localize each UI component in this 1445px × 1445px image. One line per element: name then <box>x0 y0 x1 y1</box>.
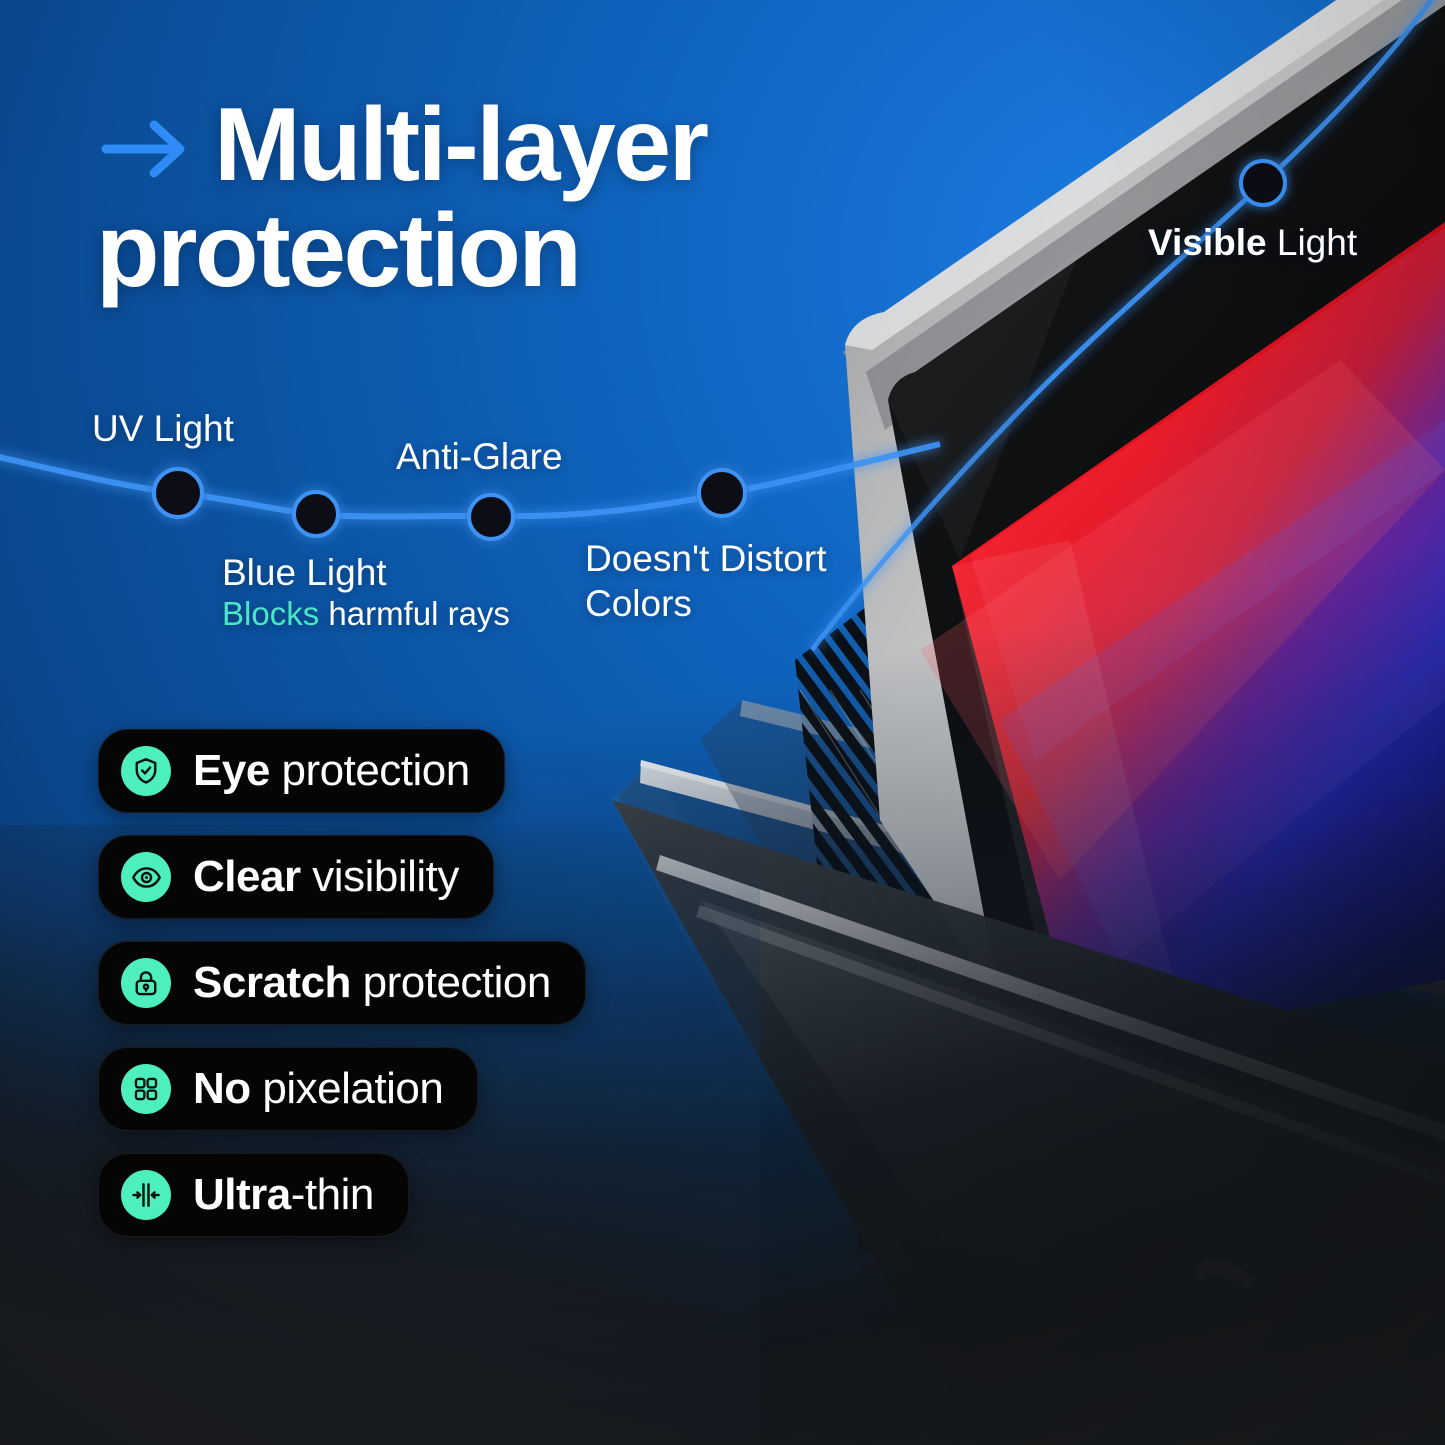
label-colors-line-2: Colors <box>585 581 826 626</box>
compress-arrows-icon <box>121 1170 171 1220</box>
label-uv-light: UV Light <box>92 408 234 449</box>
feature-pill-no-pixelation[interactable]: No pixelation <box>98 1047 478 1131</box>
feature-label-bold-2: Scratch <box>193 958 351 1007</box>
shield-check-icon <box>121 746 171 796</box>
page-title: Multi-layer protection <box>96 92 856 304</box>
feature-label-bold-3: No <box>193 1064 251 1113</box>
headline-line-1: Multi-layer <box>96 92 856 198</box>
label-anti-glare: Anti-Glare <box>396 436 563 477</box>
label-visible-light-bold: Visible <box>1148 222 1267 263</box>
label-doesnt-distort-colors: Doesn't Distort Colors <box>585 536 826 626</box>
feature-label-bold-0: Eye <box>193 746 270 795</box>
feature-pill-ultra-thin-label: Ultra-thin <box>193 1170 374 1220</box>
feature-pill-no-pixelation-label: No pixelation <box>193 1064 443 1114</box>
grid-four-icon <box>121 1064 171 1114</box>
label-blue-light-text: Blue Light <box>222 552 387 593</box>
feature-pill-list: Eye protection Clear visibility <box>98 729 586 1237</box>
label-uv-light-text: UV Light <box>92 408 234 449</box>
label-visible-light-rest: Light <box>1267 222 1358 263</box>
feature-pill-scratch-protection[interactable]: Scratch protection <box>98 941 586 1025</box>
feature-pill-eye-protection[interactable]: Eye protection <box>98 729 505 813</box>
feature-label-rest-1: visibility <box>301 852 459 901</box>
headline-block: Multi-layer protection <box>96 92 856 304</box>
feature-label-rest-3: pixelation <box>251 1064 444 1113</box>
product-feature-graphic: Multi-layer protection Visible Light UV … <box>0 0 1445 1445</box>
label-visible-light: Visible Light <box>1148 222 1357 263</box>
feature-pill-eye-protection-label: Eye protection <box>193 746 470 796</box>
label-anti-glare-text: Anti-Glare <box>396 436 563 477</box>
headline-line-2: protection <box>96 198 856 304</box>
label-blue-light: Blue Light Blocks harmful rays <box>222 552 510 633</box>
feature-label-rest-2: protection <box>351 958 551 1007</box>
feature-pill-clear-visibility-label: Clear visibility <box>193 852 459 902</box>
label-blue-light-sub-highlight: Blocks <box>222 595 319 632</box>
label-colors-line-1: Doesn't Distort <box>585 536 826 581</box>
feature-label-rest-4: -thin <box>291 1170 374 1219</box>
feature-label-rest-0: protection <box>270 746 470 795</box>
label-blue-light-sub: Blocks harmful rays <box>222 596 510 633</box>
feature-label-bold-1: Clear <box>193 852 301 901</box>
lock-icon <box>121 958 171 1008</box>
feature-pill-scratch-protection-label: Scratch protection <box>193 958 551 1008</box>
feature-label-bold-4: Ultra <box>193 1170 291 1219</box>
eye-icon <box>121 852 171 902</box>
feature-pill-clear-visibility[interactable]: Clear visibility <box>98 835 494 919</box>
feature-pill-ultra-thin[interactable]: Ultra-thin <box>98 1153 409 1237</box>
arrow-right-icon <box>100 117 192 181</box>
label-blue-light-sub-rest: harmful rays <box>319 595 510 632</box>
